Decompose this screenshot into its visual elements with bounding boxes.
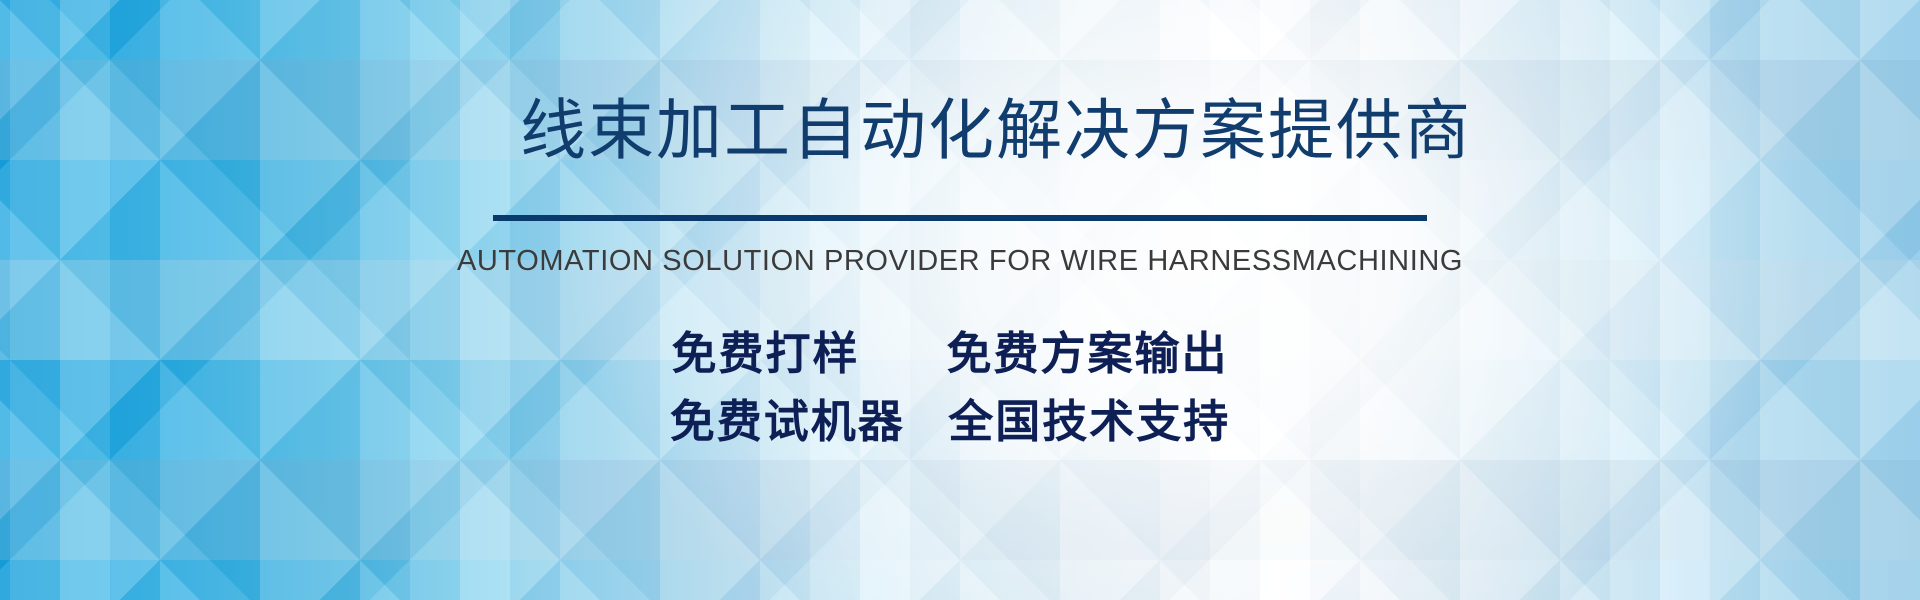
banner-headline: 线束加工自动化解决方案提供商 (520, 96, 1460, 165)
headline-divider-rule (493, 215, 1427, 221)
banner-subheadline-english: AUTOMATION SOLUTION PROVIDER FOR WIRE HA… (440, 245, 1480, 278)
banner-content: 线束加工自动化解决方案提供商 AUTOMATION SOLUTION PROVI… (0, 0, 1920, 600)
claim-line-2: 免费试机器 全国技术支持 (430, 388, 1470, 456)
hero-banner: 线束加工自动化解决方案提供商 AUTOMATION SOLUTION PROVI… (0, 0, 1920, 600)
banner-claims-list: 免费打样 免费方案输出 免费试机器 全国技术支持 (430, 320, 1470, 457)
claim-line-1: 免费打样 免费方案输出 (430, 320, 1470, 388)
